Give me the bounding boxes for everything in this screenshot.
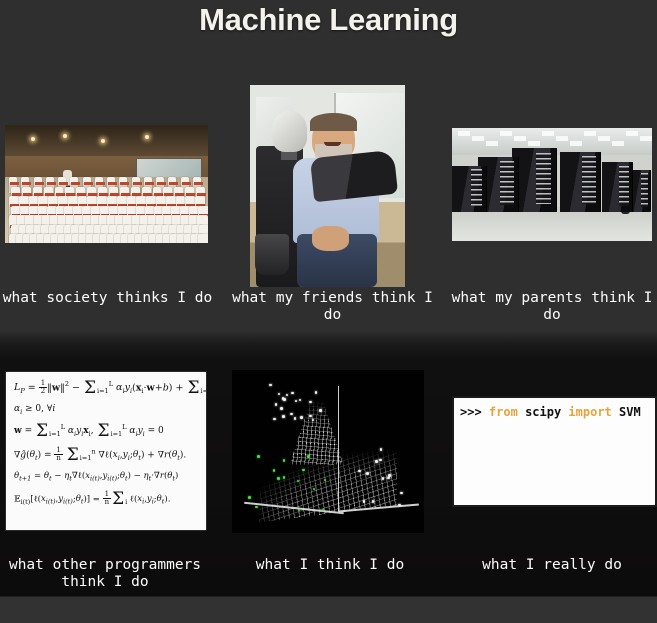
caption-society: what society thinks I do	[0, 290, 215, 307]
data-point-class-a	[299, 399, 302, 402]
server-rack	[602, 162, 633, 212]
caption-i-think: what I think I do	[225, 557, 435, 574]
code-token-import: import	[568, 405, 611, 419]
equation-block: LP = 12‖w‖2 − Σi=1L αiyi(xi·w+b) + Σi=1L…	[14, 380, 200, 516]
data-point-class-a	[280, 407, 283, 410]
caption-other-programmers: what other programmers think I do	[0, 557, 210, 591]
robot-hand	[255, 234, 289, 274]
data-point-class-a	[286, 394, 289, 397]
rack-indicator-lights	[582, 156, 596, 204]
meme-canvas: Machine Learning what society thinks I d…	[0, 0, 657, 623]
data-point-class-a	[398, 504, 401, 507]
server-rack	[452, 166, 487, 212]
ceiling-light	[626, 131, 638, 136]
rack-indicator-lights	[536, 153, 551, 204]
robot-head	[272, 111, 308, 151]
man-clasped-hands	[312, 226, 349, 250]
server-rack	[560, 152, 601, 212]
man-hair	[310, 113, 357, 131]
data-point-class-b	[255, 506, 258, 509]
data-point-class-a	[366, 472, 369, 475]
code-token-prompt: >>>	[460, 405, 482, 419]
data-point-class-a	[275, 403, 278, 406]
data-point-class-a	[294, 417, 297, 420]
rack-indicator-lights	[619, 166, 629, 206]
ceiling-lamp	[31, 137, 35, 141]
code-token-svm: SVM	[619, 405, 641, 419]
data-point-class-a	[290, 413, 293, 416]
equation-line: θt+1 = θt − ηt∇ℓ(xi(t),yi(t);θt) − ηt·∇r…	[14, 472, 200, 483]
data-point-class-a	[282, 415, 285, 418]
code-line: >>> from scipy import SVM	[460, 405, 641, 419]
data-point-class-a	[387, 477, 390, 480]
data-point-class-a	[269, 384, 272, 387]
data-point-class-a	[309, 401, 312, 404]
data-point-class-a	[283, 398, 286, 401]
ceiling-lamp	[101, 139, 105, 143]
equation-line: w = Σi=1L αiyixi, Σi=1L αiyi = 0	[14, 424, 200, 438]
ceiling-light	[472, 136, 484, 141]
ceiling-light	[570, 141, 582, 146]
image-man-with-robot	[250, 85, 405, 287]
caption-friends: what my friends think I do	[225, 290, 440, 324]
ceiling-light	[528, 141, 540, 146]
equation-line: αi ≥ 0, ∀i	[14, 405, 200, 416]
data-point-class-a	[278, 393, 281, 396]
image-robot-hall	[5, 125, 208, 243]
caption-i-really-do: what I really do	[447, 557, 657, 574]
data-point-class-a	[300, 416, 303, 419]
data-point-class-a	[380, 448, 383, 451]
equation-line: LP = 12‖w‖2 − Σi=1L αiyi(xi·w+b) + Σi=1L…	[14, 380, 200, 396]
image-svm-hyperplane	[232, 370, 424, 533]
data-point-class-b	[248, 496, 251, 499]
ceiling-light	[612, 141, 624, 146]
page-title: Machine Learning	[0, 2, 657, 38]
ceiling	[5, 125, 208, 156]
data-point-class-a	[400, 492, 403, 495]
image-equations: LP = 12‖w‖2 − Σi=1L αiyi(xi·w+b) + Σi=1L…	[5, 371, 207, 531]
server-rack	[630, 170, 651, 212]
ceiling-light	[598, 136, 610, 141]
data-point-class-b	[302, 469, 305, 472]
ceiling-light	[640, 136, 652, 141]
man-smile	[324, 142, 341, 146]
robot-figure	[198, 234, 208, 243]
data-point-class-a	[319, 409, 322, 412]
equation-line: 𝔼i(t)[ℓ(xi(t),yi(t);θt)] = 1nΣi ℓ(xi,yi;…	[14, 491, 200, 507]
data-point-class-a	[291, 392, 294, 395]
ceiling-lamp	[63, 134, 67, 138]
data-point-class-a	[363, 500, 366, 503]
ceiling-light	[514, 136, 526, 141]
rack-indicator-lights	[500, 161, 514, 205]
ceiling-light	[458, 131, 470, 136]
ceiling-light	[486, 141, 498, 146]
data-point-class-a	[295, 400, 298, 403]
robot-arm-on-shoulder	[310, 149, 398, 202]
ceiling-light	[542, 131, 554, 136]
image-supercomputer	[452, 128, 652, 241]
data-point-class-a	[273, 418, 276, 421]
ceiling-lamp	[145, 135, 149, 139]
data-point-class-a	[315, 391, 318, 394]
caption-parents: what my parents think I do	[447, 290, 657, 324]
ceiling-light	[556, 136, 568, 141]
code-token-scipy: scipy	[525, 405, 561, 419]
ceiling-light	[584, 131, 596, 136]
rack-indicator-lights	[641, 173, 648, 207]
data-point-class-b	[257, 455, 260, 458]
data-point-class-b	[277, 477, 280, 480]
equation-line: ∇ĝ(θt) = 1n Σi=1n ∇ℓ(xi,yi;θt) + ∇r(θt).	[14, 447, 200, 463]
image-python-console: >>> from scipy import SVM	[452, 396, 657, 507]
ceiling-light	[500, 131, 512, 136]
data-point-class-a	[379, 459, 382, 462]
rack-indicator-lights	[471, 169, 483, 206]
data-point-class-a	[375, 460, 378, 463]
data-point-class-b	[307, 455, 310, 458]
code-token-from: from	[489, 405, 518, 419]
